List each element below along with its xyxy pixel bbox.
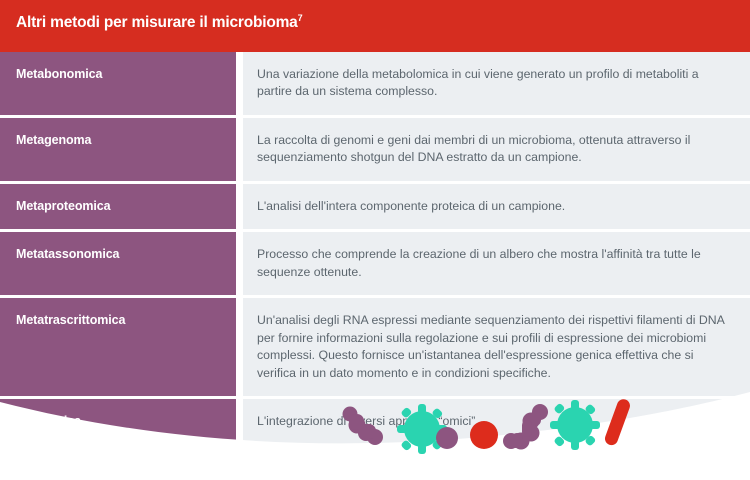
- definition-cell: La raccolta di genomi e geni dai membri …: [243, 118, 750, 181]
- term-cell: Metaproteomica: [0, 184, 236, 229]
- table-row: Metagenoma La raccolta di genomi e geni …: [0, 118, 750, 181]
- footnote-marker: 7: [298, 13, 303, 23]
- table-row: Muti-omica L'integrazione di diversi app…: [0, 399, 750, 451]
- term-cell: Metatrascrittomica: [0, 298, 236, 396]
- term-cell: Metabonomica: [0, 52, 236, 115]
- definition-cell: Una variazione della metabolomica in cui…: [243, 52, 750, 115]
- term-cell: Muti-omica: [0, 399, 236, 451]
- table-row: Metabonomica Una variazione della metabo…: [0, 52, 750, 115]
- definition-cell: Un'analisi degli RNA espressi mediante s…: [243, 298, 750, 396]
- methods-table: Metabonomica Una variazione della metabo…: [0, 52, 750, 454]
- term-cell: Metagenoma: [0, 118, 236, 181]
- table-row: Metatassonomica Processo che comprende l…: [0, 232, 750, 295]
- definition-cell: L'integrazione di diversi approcci “omic…: [243, 399, 750, 451]
- term-cell: Metatassonomica: [0, 232, 236, 295]
- header-bar: Altri metodi per misurare il microbioma7: [0, 0, 750, 52]
- page-title: Altri metodi per misurare il microbioma7: [16, 14, 302, 32]
- table-row: Metaproteomica L'analisi dell'intera com…: [0, 184, 750, 229]
- infographic-page: Altri metodi per misurare il microbioma7…: [0, 0, 750, 480]
- definition-cell: L'analisi dell'intera componente proteic…: [243, 184, 750, 229]
- page-title-text: Altri metodi per misurare il microbioma: [16, 14, 298, 31]
- table-row: Metatrascrittomica Un'analisi degli RNA …: [0, 298, 750, 396]
- definition-cell: Processo che comprende la creazione di u…: [243, 232, 750, 295]
